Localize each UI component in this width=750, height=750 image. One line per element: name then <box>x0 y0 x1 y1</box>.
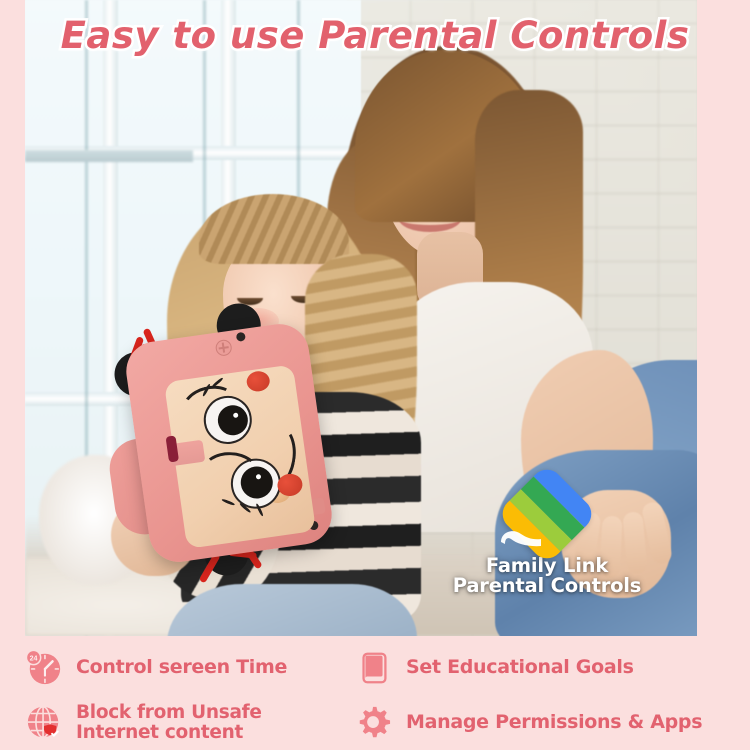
feature-set-educational-goals: Set Educational Goals <box>355 649 715 687</box>
product-poster: Easy to use Parental Controls Family Lin… <box>0 0 750 750</box>
kids-tablet-case <box>113 305 346 580</box>
feature-list: 24 Control sereen Time Set Educational G… <box>25 640 735 750</box>
feature-block-unsafe-internet: Block from Unsafe Internet content <box>25 703 355 743</box>
feature-label: Manage Permissions & Apps <box>406 712 702 733</box>
family-link-badge: Family Link Parental Controls <box>452 478 642 626</box>
family-link-logo <box>511 478 583 550</box>
family-link-swoosh-icon <box>499 526 543 548</box>
feature-label: Block from Unsafe Internet content <box>76 703 262 743</box>
clock-24-icon: 24 <box>25 649 63 687</box>
feature-label-line1: Block from Unsafe <box>76 702 262 723</box>
page-title: Easy to use Parental Controls <box>0 14 750 57</box>
feature-control-screen-time: 24 Control sereen Time <box>25 649 355 687</box>
feature-label: Set Educational Goals <box>406 657 634 678</box>
family-link-title-line2: Parental Controls <box>452 576 642 596</box>
globe-shield-icon <box>25 704 63 742</box>
feature-manage-permissions-apps: Manage Permissions & Apps <box>355 704 715 742</box>
tablet-shell <box>122 320 335 565</box>
feature-label-line2: Internet content <box>76 722 243 743</box>
feature-label: Control sereen Time <box>76 657 287 678</box>
svg-text:24: 24 <box>30 654 38 662</box>
book-icon <box>355 649 393 687</box>
gear-icon <box>355 704 393 742</box>
